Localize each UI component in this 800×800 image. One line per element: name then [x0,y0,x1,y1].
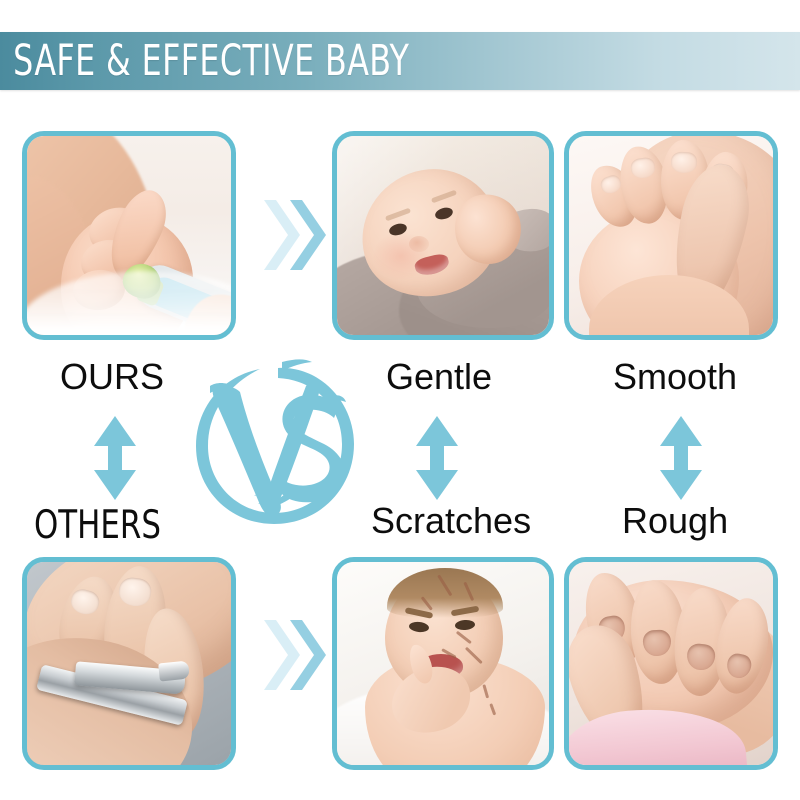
panel-others-result-baby[interactable] [332,557,554,770]
panel-ours-product[interactable] [22,131,236,340]
vs-logo-graphic [182,352,364,538]
vs-badge-icon [182,352,364,538]
image-smooth-nails [569,136,773,335]
arrow-others-to-scratches [262,616,328,694]
arrow-up-down-icon [414,414,460,502]
arrow-up-down-icon [658,414,704,502]
infographic-page: SAFE & EFFECTIVE BABY [0,0,800,800]
chevron-right-icon [262,616,328,694]
label-others: OTHERS [34,503,161,548]
label-ours: OURS [60,356,164,398]
header-banner: SAFE & EFFECTIVE BABY [0,32,800,90]
image-smiling-baby [337,136,549,335]
arrow-up-down-icon [92,414,138,502]
panel-others-product[interactable] [22,557,236,770]
label-smooth: Smooth [613,356,737,398]
arrow-smooth-vs-rough [658,414,704,507]
label-gentle: Gentle [386,356,492,398]
arrow-ours-to-gentle [262,196,328,274]
arrow-gentle-vs-scratches [414,414,460,507]
image-crying-baby [337,562,549,765]
panel-ours-result-nails[interactable] [564,131,778,340]
arrow-ours-vs-others [92,414,138,507]
image-rough-nails [569,562,773,765]
image-metal-clipper [27,562,231,765]
panel-ours-result-baby[interactable] [332,131,554,340]
image-ours-product [27,136,231,335]
chevron-right-icon [262,196,328,274]
panel-others-result-nails[interactable] [564,557,778,770]
page-title: SAFE & EFFECTIVE BABY [0,36,409,86]
